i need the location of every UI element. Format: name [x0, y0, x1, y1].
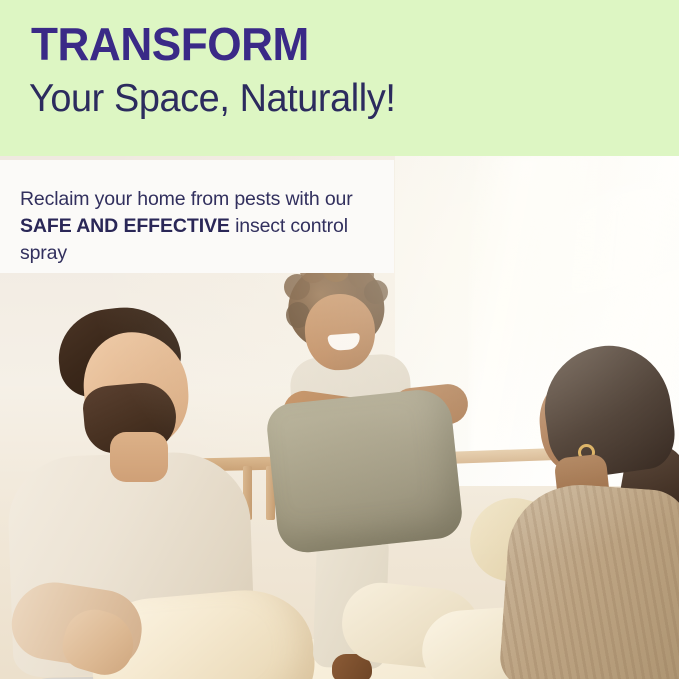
overlay-copy-emphasis: SAFE AND EFFECTIVE — [20, 215, 230, 237]
product-banner: TRANSFORM Your Space, Naturally! — [0, 0, 679, 679]
overlay-copy-line1: Reclaim your home from pests with — [20, 188, 320, 210]
man-neck — [110, 432, 168, 482]
page-subtitle: Your Space, Naturally! — [29, 76, 395, 121]
child-hair-curl — [364, 280, 388, 304]
overlay-copy-prefix: our — [325, 188, 353, 210]
overlay-copy-suffix: insect — [230, 215, 285, 237]
overlay-text-card: Reclaim your home from pests with our SA… — [0, 160, 394, 273]
banner-header: TRANSFORM Your Space, Naturally! — [0, 0, 679, 156]
page-title: TRANSFORM — [31, 20, 309, 68]
overlay-copy: Reclaim your home from pests with our SA… — [20, 186, 380, 267]
woman-knit-sweater — [498, 480, 679, 679]
sage-green-pillow — [265, 387, 465, 556]
